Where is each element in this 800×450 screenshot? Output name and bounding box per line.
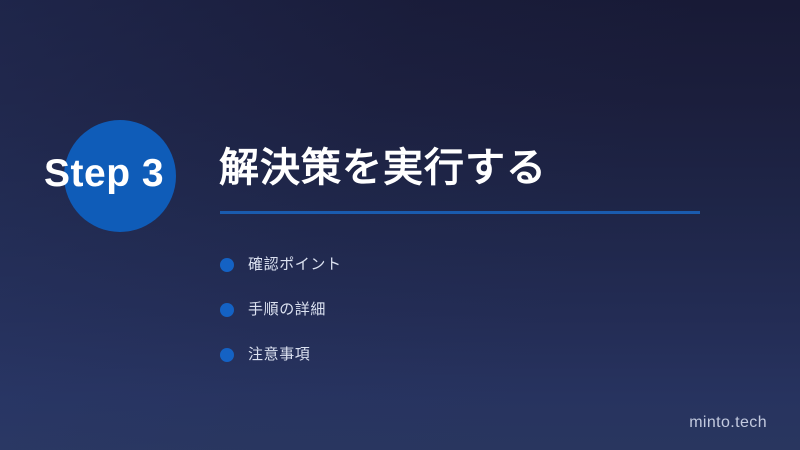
slide-canvas: Step 3 解決策を実行する 確認ポイント 手順の詳細 注意事項 minto.… [0,0,800,450]
watermark-label: minto.tech [689,414,767,432]
title-divider [220,211,700,214]
bullet-dot-icon [220,348,234,362]
step-badge-label: Step 3 [44,150,214,198]
list-item: 手順の詳細 [220,287,342,332]
bullet-dot-icon [220,258,234,272]
bullet-list: 確認ポイント 手順の詳細 注意事項 [220,242,342,377]
list-item-label: 手順の詳細 [248,302,326,317]
list-item: 確認ポイント [220,242,342,287]
slide-title: 解決策を実行する [219,144,547,192]
list-item-label: 注意事項 [248,347,310,362]
list-item-label: 確認ポイント [248,257,342,272]
list-item: 注意事項 [220,332,342,377]
bullet-dot-icon [220,303,234,317]
